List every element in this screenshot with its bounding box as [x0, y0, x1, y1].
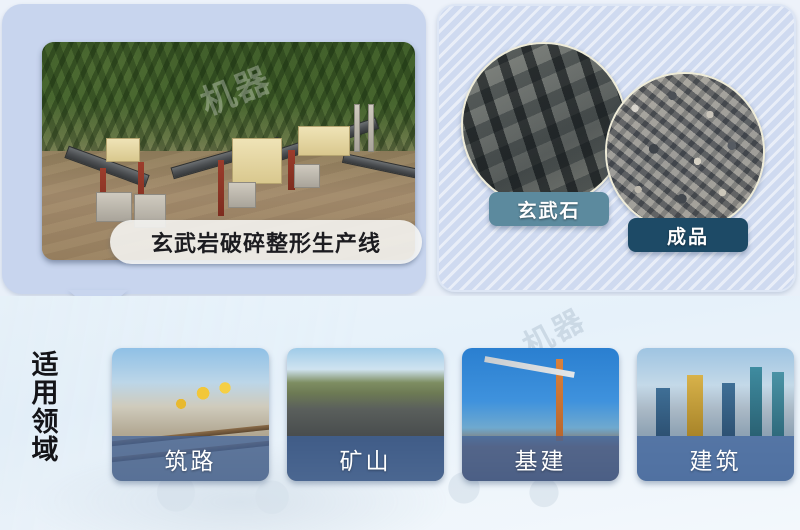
card-band-mine: 矿山	[287, 436, 444, 481]
hero-crusher-unit-b	[232, 138, 282, 184]
application-card-list: 筑路 矿山 基建	[112, 348, 794, 481]
circle-photo-product	[605, 72, 765, 232]
hero-concrete-pier-c	[228, 182, 256, 208]
hero-caption-bar: 玄武岩破碎整形生产线	[110, 220, 422, 264]
hero-caption-text: 玄武岩破碎整形生产线	[151, 226, 381, 258]
card-band-building: 建筑	[637, 436, 794, 481]
hero-concrete-pier-a	[96, 192, 132, 222]
card-band-infrastructure: 基建	[462, 436, 619, 481]
applications-section: 机器 适 用 领 域 筑路	[0, 296, 800, 530]
application-card-road[interactable]: 筑路	[112, 348, 269, 481]
label-pill-product-text: 成品	[667, 222, 709, 249]
promo-graphic-root: 机器 玄武岩破碎整形生产线 玄武石 成品 机器	[0, 0, 800, 530]
vertical-title-char-3: 领	[32, 409, 59, 437]
vertical-title-char-4: 域	[32, 437, 59, 465]
tower-1	[656, 388, 670, 436]
vertical-title-char-2: 用	[32, 380, 59, 408]
right-material-panel: 玄武石 成品	[437, 4, 796, 292]
hero-crusher-unit-c	[298, 126, 350, 156]
tower-2	[687, 375, 703, 436]
card-band-road: 筑路	[112, 436, 269, 481]
card-label-road: 筑路	[165, 442, 217, 476]
left-hero-panel: 机器 玄武岩破碎整形生产线	[2, 4, 426, 294]
card-label-infrastructure: 基建	[515, 442, 567, 476]
application-card-mine[interactable]: 矿山	[287, 348, 444, 481]
hero-support-frame-c	[218, 160, 224, 216]
top-section: 机器 玄武岩破碎整形生产线 玄武石 成品	[0, 0, 800, 296]
tower-5	[772, 372, 784, 436]
tower-3	[722, 383, 735, 436]
crushed-aggregate-texture	[607, 74, 763, 230]
application-card-infrastructure[interactable]: 基建	[462, 348, 619, 481]
hero-tower-post-b	[368, 104, 374, 152]
circle-photo-basalt	[461, 42, 627, 208]
label-pill-product: 成品	[628, 218, 748, 252]
label-pill-basalt: 玄武石	[489, 192, 609, 226]
card-label-building: 建筑	[690, 442, 742, 476]
label-pill-basalt-text: 玄武石	[517, 196, 580, 223]
card-label-mine: 矿山	[340, 442, 392, 476]
hero-crusher-unit-a	[106, 138, 140, 162]
hero-tower-post-a	[354, 104, 360, 152]
tower-4	[750, 367, 762, 436]
application-card-building[interactable]: 建筑	[637, 348, 794, 481]
hero-concrete-pier-d	[294, 164, 320, 188]
vertical-title-char-1: 适	[32, 352, 59, 380]
applications-vertical-title: 适 用 领 域	[28, 352, 62, 465]
basalt-rock-texture	[463, 44, 625, 206]
